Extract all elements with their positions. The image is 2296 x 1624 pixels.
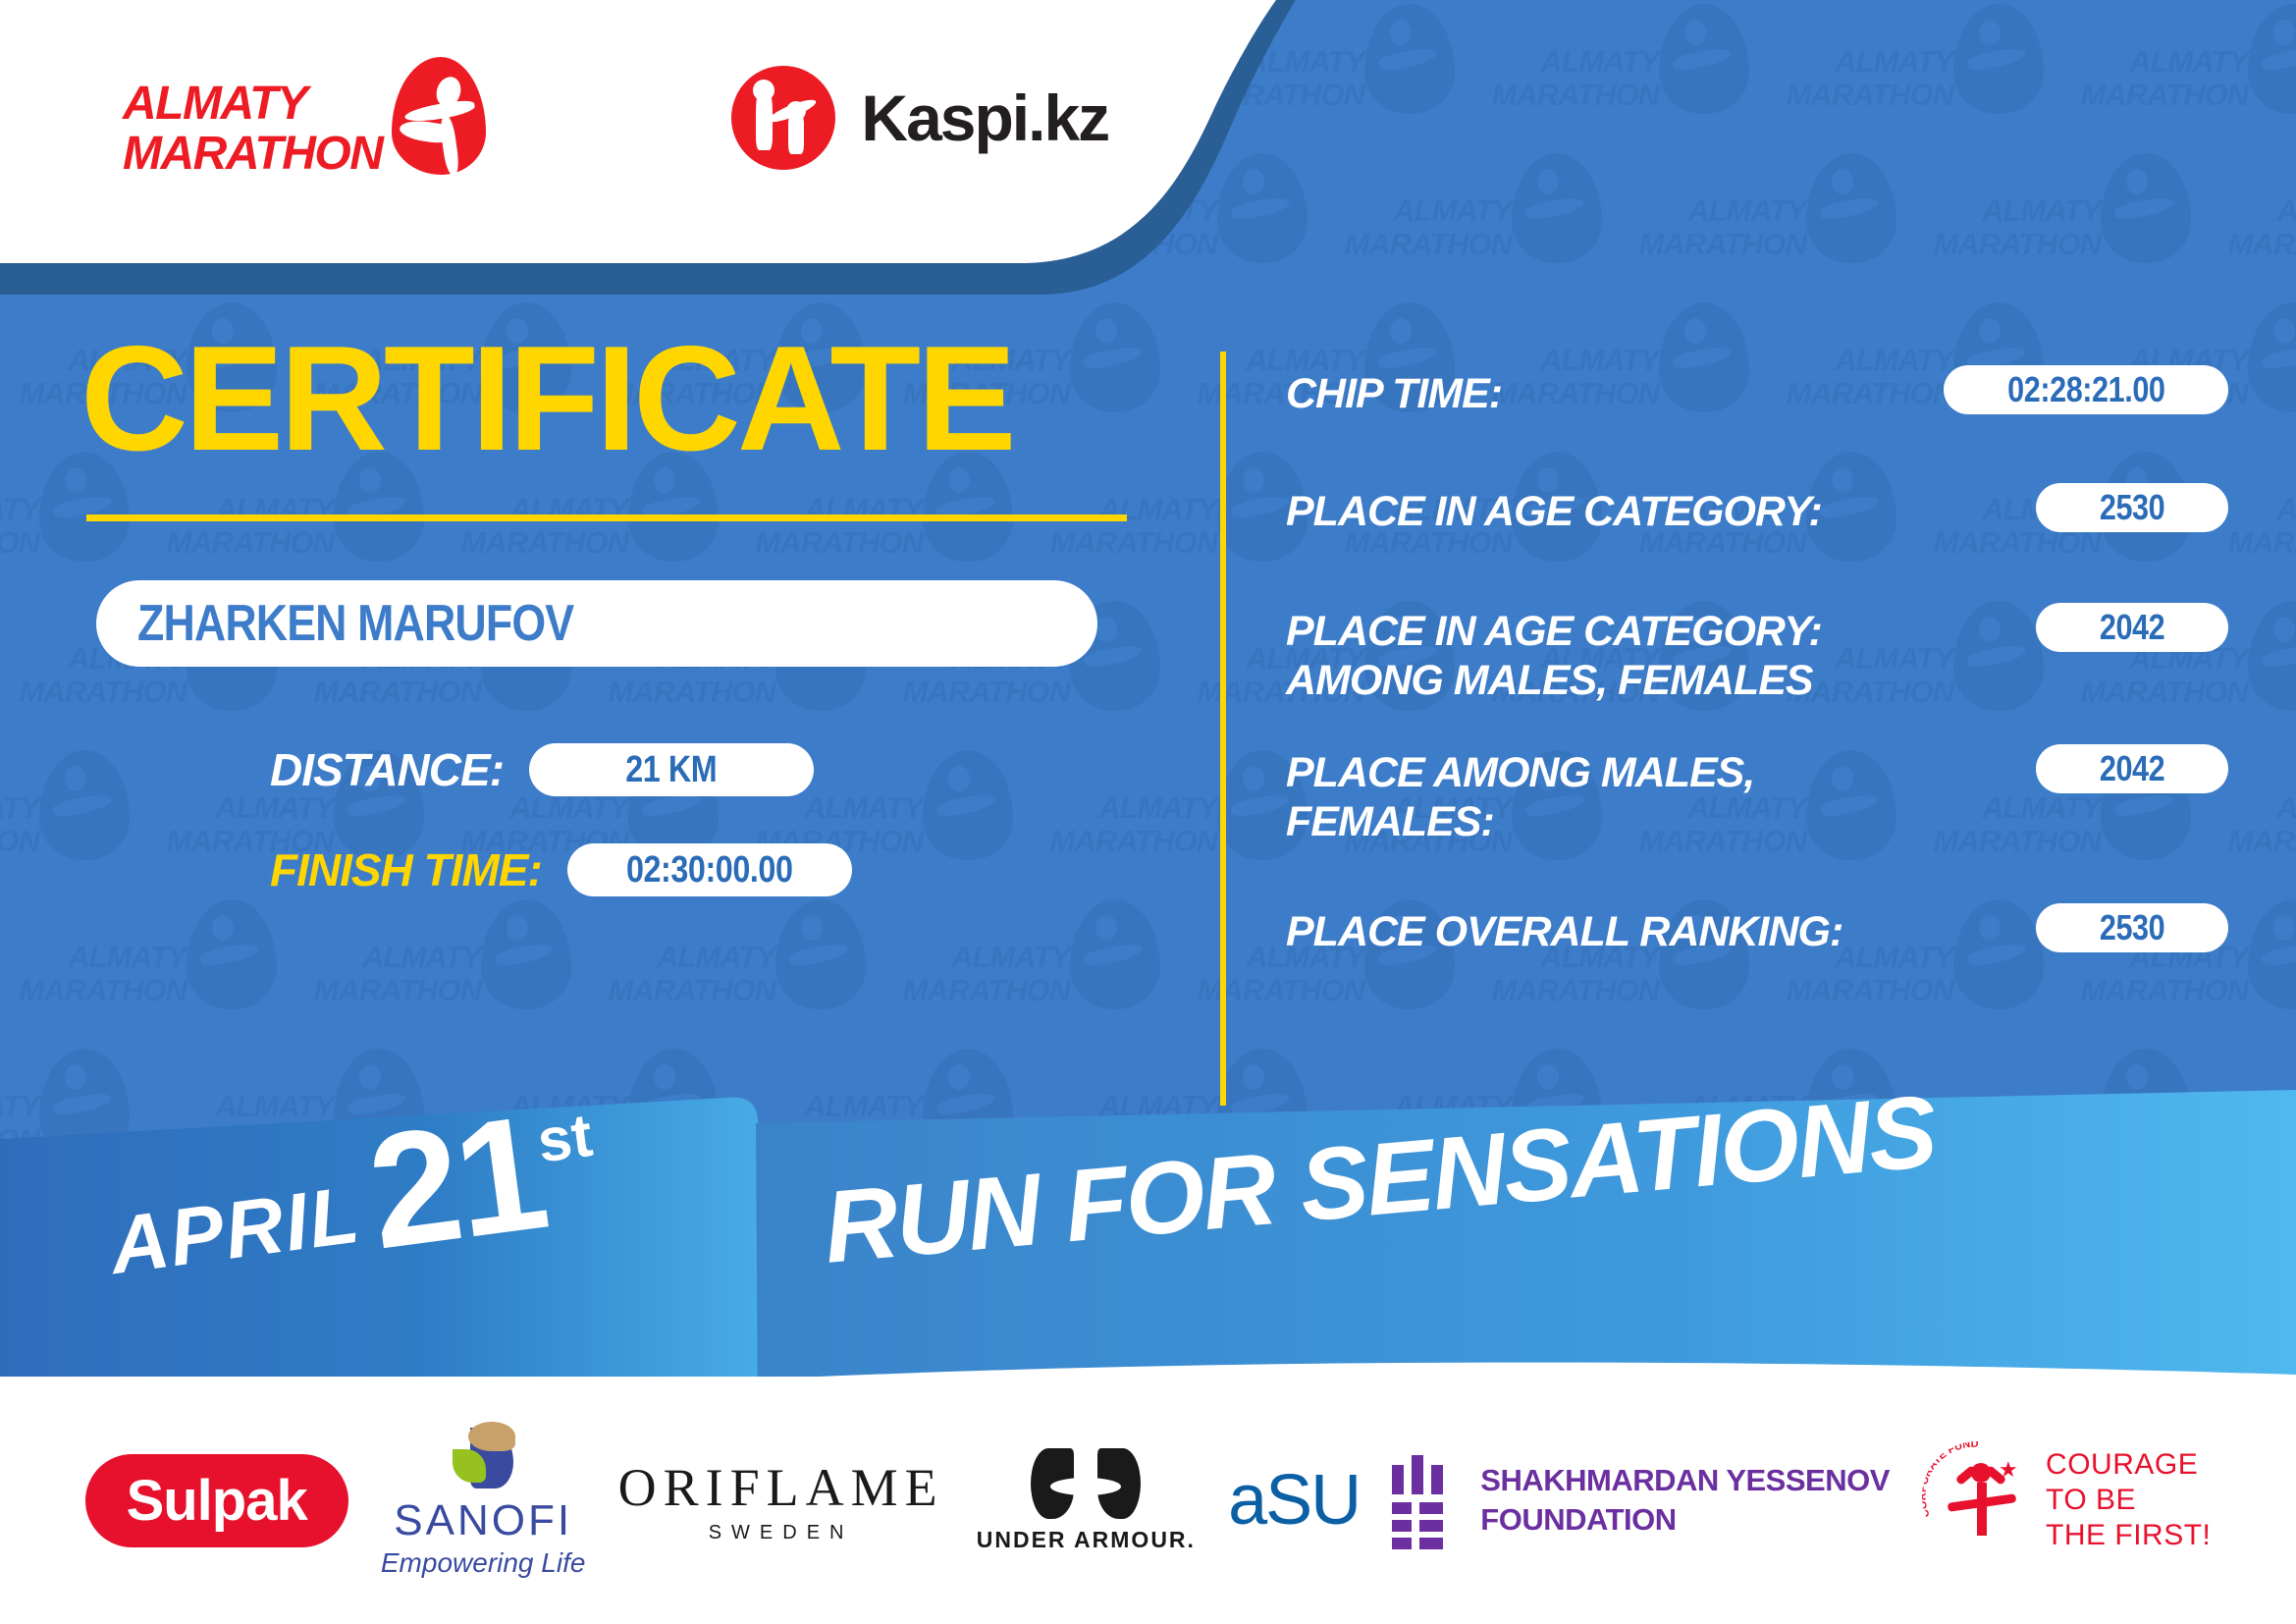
watermark-runner-icon	[2248, 4, 2296, 114]
watermark-runner-icon	[2101, 153, 2191, 263]
sponsor-sanofi-tagline: Empowering Life	[381, 1547, 586, 1579]
sponsor-under-armour-label: UNDER ARMOUR.	[977, 1527, 1196, 1553]
sponsor-corporate-fund: CORPORATE FUND ★ COURAGE TO BE THE FIRST…	[1922, 1441, 2211, 1559]
place-among-males-females-row: PLACE AMONG MALES, FEMALES: 2042	[1286, 744, 2228, 846]
place-among-males-females-label-line1: PLACE AMONG MALES,	[1286, 748, 1754, 797]
place-among-males-females-value-pill: 2042	[2036, 744, 2228, 793]
place-overall-ranking-label: PLACE OVERALL RANKING:	[1286, 903, 1842, 956]
finish-time-value-pill: 02:30:00.00	[567, 843, 852, 896]
athlete-name-field: ZHARKEN MARUFOV	[96, 580, 1097, 667]
under-armour-icon	[1027, 1448, 1145, 1519]
watermark-text: ALMATYMARATHON	[1620, 194, 1806, 261]
watermark-tile: ALMATYMARATHON	[883, 895, 1178, 1043]
finish-time-label: FINISH TIME:	[270, 843, 542, 896]
sponsor-corporate-fund-label: COURAGE TO BE THE FIRST!	[2046, 1447, 2211, 1553]
sponsor-yessenov-label: SHAKHMARDAN YESSENOV FOUNDATION	[1480, 1461, 1890, 1540]
watermark-text: ALMATYMARATHON	[1472, 45, 1659, 112]
kaspi-wordmark: Kaspi.kz	[861, 81, 1108, 155]
sponsor-sulpak-label: Sulpak	[127, 1468, 307, 1534]
place-age-category-value-pill: 2530	[2036, 483, 2228, 532]
certificate-left-column: CERTIFICATE ZHARKEN MARUFOV DISTANCE: 21…	[0, 324, 1207, 896]
place-age-category-label: PLACE IN AGE CATEGORY:	[1286, 483, 1822, 536]
distance-label: DISTANCE:	[270, 743, 504, 796]
page-title: CERTIFICATE	[0, 324, 1207, 473]
place-age-category-among-label-line1: PLACE IN AGE CATEGORY:	[1286, 607, 1822, 656]
runner-drop-icon	[392, 57, 486, 175]
place-age-category-among-row: PLACE IN AGE CATEGORY: AMONG MALES, FEMA…	[1286, 603, 2228, 705]
watermark-runner-icon	[2248, 302, 2296, 412]
corporate-fund-icon: CORPORATE FUND ★	[1922, 1441, 2032, 1559]
watermark-tile: ALMATYMARATHON	[589, 895, 883, 1043]
chip-time-label: CHIP TIME:	[1286, 365, 1502, 418]
watermark-tile: ALMATYMARATHON	[1767, 0, 2061, 147]
place-age-category-among-label-line2: AMONG MALES, FEMALES	[1286, 656, 1822, 705]
watermark-text: ALMATYMARATHON	[883, 941, 1070, 1007]
sponsor-bar: Sulpak SANOFI Empowering Life ORIFLAME S…	[0, 1377, 2296, 1624]
sponsor-yessenov-label-line1: SHAKHMARDAN YESSENOV	[1480, 1461, 1890, 1500]
watermark-runner-icon	[1806, 153, 1896, 263]
sponsor-oriflame: ORIFLAME SWEDEN	[618, 1457, 944, 1544]
distance-row: DISTANCE: 21 KM	[270, 743, 1207, 796]
watermark-runner-icon	[1512, 153, 1602, 263]
watermark-tile: ALMATYMARATHON	[1472, 0, 1767, 147]
sponsor-asu-label: aSU	[1228, 1460, 1360, 1541]
watermark-text: ALMATYMARATHON	[0, 941, 187, 1007]
place-age-category-among-value-pill: 2042	[2036, 603, 2228, 652]
watermark-tile: ALMATYMARATHON	[2209, 149, 2296, 297]
event-day: 21	[361, 1098, 552, 1267]
place-overall-ranking-value-pill: 2530	[2036, 903, 2228, 952]
event-day-suffix: st	[533, 1101, 596, 1177]
distance-value-pill: 21 KM	[529, 743, 814, 796]
watermark-text: ALMATYMARATHON	[1767, 45, 1953, 112]
header-logos: ALMATY MARATHON Kaspi.kz	[0, 0, 1108, 179]
watermark-runner-icon	[481, 899, 571, 1009]
watermark-runner-icon	[1364, 4, 1455, 114]
watermark-text: ALMATYMARATHON	[1914, 194, 2101, 261]
almaty-marathon-logo: ALMATY MARATHON	[123, 57, 486, 179]
almaty-marathon-line2: MARATHON	[123, 129, 382, 179]
sponsor-corporate-fund-line2: TO BE	[2046, 1483, 2211, 1518]
watermark-text: ALMATYMARATHON	[294, 941, 481, 1007]
title-divider	[86, 514, 1127, 521]
sponsor-corporate-fund-line3: THE FIRST!	[2046, 1518, 2211, 1553]
watermark-runner-icon	[1953, 4, 2044, 114]
sponsor-corporate-fund-line1: COURAGE	[2046, 1447, 2211, 1483]
watermark-text: ALMATYMARATHON	[2061, 45, 2248, 112]
place-among-males-females-value: 2042	[2100, 748, 2164, 789]
watermark-tile: ALMATYMARATHON	[1620, 149, 1914, 297]
certificate-right-column: CHIP TIME: 02:28:21.00 PLACE IN AGE CATE…	[1286, 365, 2228, 1009]
sponsor-oriflame-label: ORIFLAME	[618, 1457, 944, 1518]
watermark-tile: ALMATYMARATHON	[1325, 149, 1620, 297]
place-age-category-value: 2530	[2100, 487, 2164, 528]
column-divider	[1220, 352, 1226, 1106]
chip-time-value-pill: 02:28:21.00	[1944, 365, 2228, 414]
yessenov-foundation-icon	[1392, 1451, 1457, 1549]
watermark-tile: ALMATYMARATHON	[1914, 149, 2209, 297]
watermark-tile: ALMATYMARATHON	[2061, 0, 2296, 147]
sponsor-under-armour: UNDER ARMOUR.	[977, 1448, 1196, 1553]
watermark-tile: ALMATYMARATHON	[294, 895, 589, 1043]
watermark-runner-icon	[1659, 4, 1749, 114]
finish-time-row: FINISH TIME: 02:30:00.00	[270, 843, 1207, 896]
place-age-category-among-label: PLACE IN AGE CATEGORY: AMONG MALES, FEMA…	[1286, 603, 1822, 705]
watermark-runner-icon	[187, 899, 277, 1009]
sponsor-sanofi-label: SANOFI	[394, 1496, 572, 1545]
place-age-category-row: PLACE IN AGE CATEGORY: 2530	[1286, 483, 2228, 546]
watermark-runner-icon	[2248, 601, 2296, 711]
watermark-runner-icon	[2248, 899, 2296, 1009]
watermark-runner-icon	[1070, 899, 1160, 1009]
place-among-males-females-label-line2: FEMALES:	[1286, 797, 1754, 846]
watermark-text: ALMATYMARATHON	[2209, 194, 2296, 261]
certificate-canvas: ALMATYMARATHONALMATYMARATHONALMATYMARATH…	[0, 0, 2296, 1624]
sponsor-asu: aSU	[1228, 1460, 1360, 1541]
place-overall-ranking-value: 2530	[2100, 907, 2164, 948]
sponsor-yessenov-foundation: SHAKHMARDAN YESSENOV FOUNDATION	[1392, 1451, 1890, 1549]
distance-value: 21 KM	[626, 749, 718, 791]
place-age-category-among-value: 2042	[2100, 607, 2164, 648]
chip-time-value: 02:28:21.00	[2007, 369, 2164, 410]
almaty-marathon-line1: ALMATY	[123, 79, 382, 129]
kaspi-people-icon	[731, 66, 835, 170]
sanofi-swirl-icon	[447, 1422, 519, 1494]
watermark-tile: ALMATYMARATHON	[0, 895, 294, 1043]
place-among-males-females-label: PLACE AMONG MALES, FEMALES:	[1286, 744, 1754, 846]
sponsor-yessenov-label-line2: FOUNDATION	[1480, 1500, 1890, 1540]
chip-time-row: CHIP TIME: 02:28:21.00	[1286, 365, 2228, 428]
athlete-name-value: ZHARKEN MARUFOV	[137, 594, 573, 653]
watermark-runner-icon	[775, 899, 866, 1009]
watermark-text: ALMATYMARATHON	[589, 941, 775, 1007]
sponsor-sulpak: Sulpak	[85, 1454, 348, 1547]
sponsor-oriflame-subtitle: SWEDEN	[709, 1522, 854, 1544]
place-overall-ranking-row: PLACE OVERALL RANKING: 2530	[1286, 903, 2228, 966]
finish-time-value: 02:30:00.00	[626, 849, 793, 892]
sponsor-sanofi: SANOFI Empowering Life	[381, 1422, 586, 1579]
kaspi-logo: Kaspi.kz	[731, 66, 1108, 170]
